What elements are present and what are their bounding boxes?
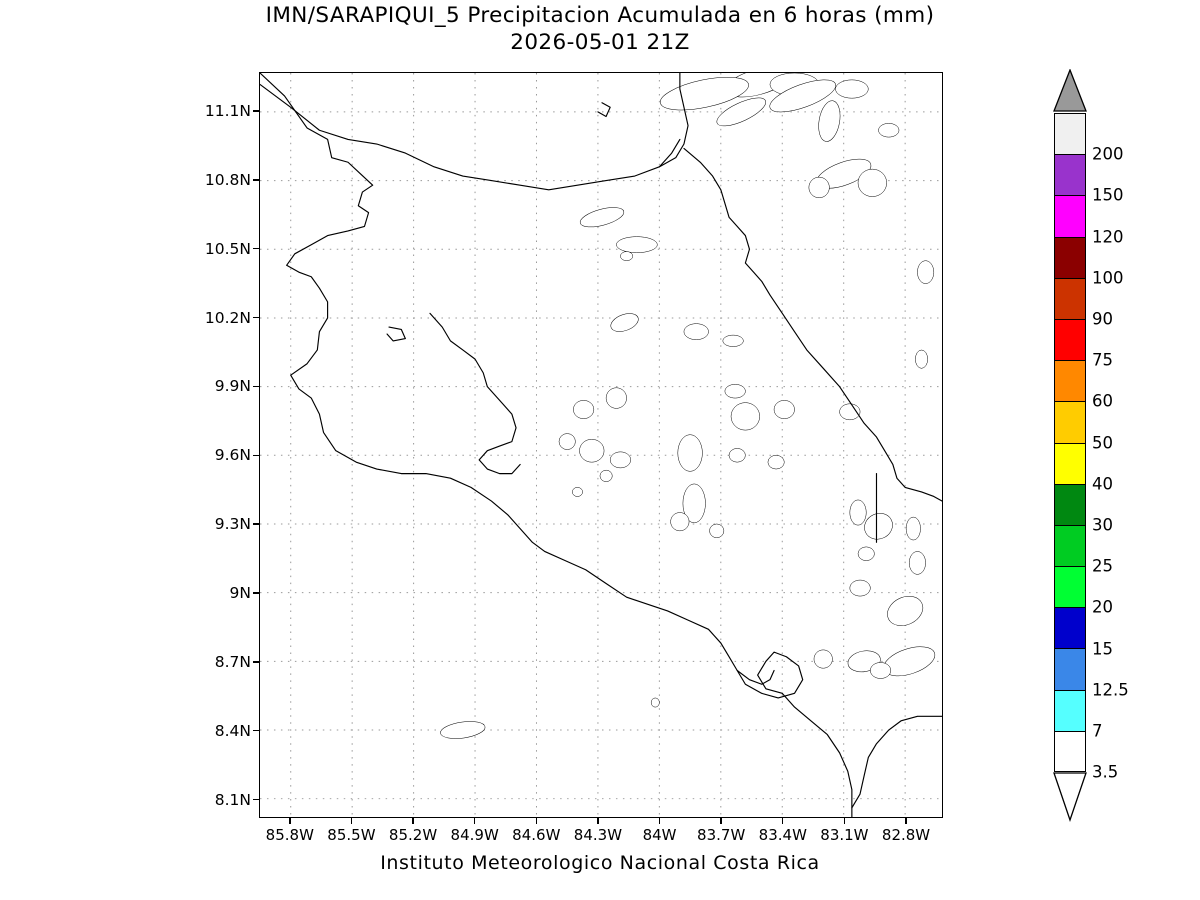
x-axis-tick-label: 84.6W (512, 826, 560, 844)
precip-contour-ring (608, 310, 640, 335)
precip-contour-ring (671, 513, 689, 531)
x-axis-tick-mark (351, 818, 352, 824)
coastline-path (260, 73, 688, 190)
coastline-path (598, 103, 610, 117)
footer-attribution: Instituto Meteorologico Nacional Costa R… (0, 852, 1200, 874)
colorbar-segment[interactable] (1054, 690, 1086, 731)
colorbar-segment[interactable] (1054, 278, 1086, 319)
y-axis-tick-label: 10.2N (191, 309, 251, 327)
y-axis-tick-label: 9.9N (191, 377, 251, 395)
x-axis-tick-label: 84.3W (574, 826, 622, 844)
precip-contour-ring (729, 448, 745, 462)
x-axis-tick-mark (597, 818, 598, 824)
precip-contour-ring (915, 350, 927, 368)
colorbar-tick-label: 30 (1092, 516, 1113, 535)
colorbar-tick-label: 150 (1092, 186, 1124, 205)
x-axis-tick-label: 85.5W (327, 826, 375, 844)
y-axis-tick-label: 8.4N (191, 722, 251, 740)
colorbar-segment[interactable] (1054, 443, 1086, 484)
colorbar-segment[interactable] (1054, 484, 1086, 525)
colorbar-segment[interactable] (1054, 195, 1086, 236)
precip-contour-ring (710, 524, 724, 538)
precip-contour-ring (816, 99, 843, 143)
colorbar-tick-label: 120 (1092, 227, 1124, 246)
colorbar-tick-label: 200 (1092, 145, 1124, 164)
precip-contour-ring (572, 487, 582, 496)
precip-contour-ring (858, 547, 874, 561)
coastline-path (737, 670, 774, 684)
x-axis-tick-mark (536, 818, 537, 824)
colorbar-tick-label: 7 (1092, 722, 1103, 741)
y-axis-tick-label: 9N (191, 584, 251, 602)
colorbar-segment[interactable] (1054, 360, 1086, 401)
x-axis-tick-label: 82.8W (882, 826, 930, 844)
precip-contour-ring (858, 169, 887, 196)
precip-contour-ring (906, 517, 920, 540)
colorbar-segment[interactable] (1054, 648, 1086, 689)
colorbar-tick-label: 90 (1092, 310, 1113, 329)
precip-contour-ring (909, 551, 925, 574)
x-axis-tick-label: 85.2W (389, 826, 437, 844)
precip-contour-ring (774, 400, 794, 418)
x-axis-tick-label: 83.4W (759, 826, 807, 844)
y-axis-tick-label: 8.7N (191, 653, 251, 671)
precip-contour-ring (814, 650, 832, 668)
x-axis-tick-label: 84W (643, 826, 677, 844)
precip-contour-ring (573, 400, 593, 418)
precip-contour-ring (620, 252, 632, 261)
precip-contour-ring (809, 177, 829, 198)
precip-contour-ring (883, 591, 928, 631)
x-axis-tick-mark (844, 818, 845, 824)
precip-contour-ring (684, 324, 709, 340)
colorbar-segment[interactable] (1054, 401, 1086, 442)
x-axis-tick-label: 83.1W (820, 826, 868, 844)
y-axis-tick-label: 11.1N (191, 102, 251, 120)
x-axis-tick-mark (289, 818, 290, 824)
precip-contour-ring (439, 719, 486, 741)
coastline-path (430, 313, 520, 473)
precip-contour-ring (559, 434, 575, 450)
colorbar-tick-label: 12.5 (1092, 680, 1129, 699)
coastline-path (684, 148, 942, 501)
x-axis-tick-label: 85.8W (266, 826, 314, 844)
y-axis-tick-label: 9.3N (191, 515, 251, 533)
colorbar-tick-label: 50 (1092, 433, 1113, 452)
x-axis-tick-mark (474, 818, 475, 824)
precip-contour-ring (917, 261, 933, 284)
colorbar-tick-label: 75 (1092, 351, 1113, 370)
x-axis-tick-label: 83.7W (697, 826, 745, 844)
chart-title-primary: IMN/SARAPIQUI_5 Precipitacion Acumulada … (0, 2, 1200, 29)
precip-contour-ring (768, 455, 784, 469)
chart-title-block: IMN/SARAPIQUI_5 Precipitacion Acumulada … (0, 2, 1200, 56)
precip-contour-ring (879, 123, 899, 137)
precip-contour-ring (870, 662, 890, 678)
precip-contour-ring (850, 580, 870, 596)
map-canvas (260, 73, 942, 817)
precip-contour-ring (610, 452, 630, 468)
colorbar[interactable] (1054, 113, 1086, 772)
colorbar-tick-label: 40 (1092, 474, 1113, 493)
y-axis-tick-label: 10.5N (191, 240, 251, 258)
chart-title-timestamp: 2026-05-01 21Z (0, 29, 1200, 56)
x-axis-tick-mark (412, 818, 413, 824)
precip-contour-ring (600, 470, 612, 481)
colorbar-segment[interactable] (1054, 113, 1086, 154)
coastline-path (387, 327, 405, 341)
colorbar-segment[interactable] (1054, 319, 1086, 360)
x-axis-tick-mark (782, 818, 783, 824)
colorbar-segment[interactable] (1054, 731, 1086, 772)
precip-contour-ring (616, 237, 657, 253)
colorbar-tick-label: 3.5 (1092, 763, 1118, 782)
colorbar-segment[interactable] (1054, 566, 1086, 607)
colorbar-tick-label: 20 (1092, 598, 1113, 617)
coastline-path (659, 139, 680, 166)
colorbar-tick-label: 100 (1092, 268, 1124, 287)
colorbar-segment[interactable] (1054, 525, 1086, 566)
map-plot-area[interactable] (259, 72, 943, 818)
x-axis-tick-mark (905, 818, 906, 824)
precip-contour-ring (678, 435, 703, 472)
y-axis-tick-label: 10.8N (191, 171, 251, 189)
precip-contour-ring (651, 698, 659, 707)
precipitation-contours (439, 73, 938, 741)
colorbar-segment[interactable] (1054, 154, 1086, 195)
precip-contour-ring (836, 80, 869, 98)
x-axis-tick-mark (659, 818, 660, 824)
x-axis-tick-label: 84.9W (451, 826, 499, 844)
x-axis-tick-mark (720, 818, 721, 824)
y-axis-tick-label: 9.6N (191, 446, 251, 464)
colorbar-tick-label: 25 (1092, 557, 1113, 576)
precip-contour-ring (725, 384, 745, 398)
y-axis-tick-label: 8.1N (191, 791, 251, 809)
precip-contour-ring (578, 204, 626, 231)
colorbar-tick-label: 15 (1092, 639, 1113, 658)
precip-contour-ring (723, 335, 743, 346)
coastline-path (852, 716, 942, 808)
precip-contour-ring (731, 403, 760, 430)
colorbar-tick-label: 60 (1092, 392, 1113, 411)
precip-contour-ring (579, 439, 604, 462)
precip-contour-ring (606, 388, 626, 409)
colorbar-segment[interactable] (1054, 237, 1086, 278)
coastline-path (782, 693, 852, 817)
precip-contour-ring (850, 500, 866, 525)
colorbar-segment[interactable] (1054, 607, 1086, 648)
